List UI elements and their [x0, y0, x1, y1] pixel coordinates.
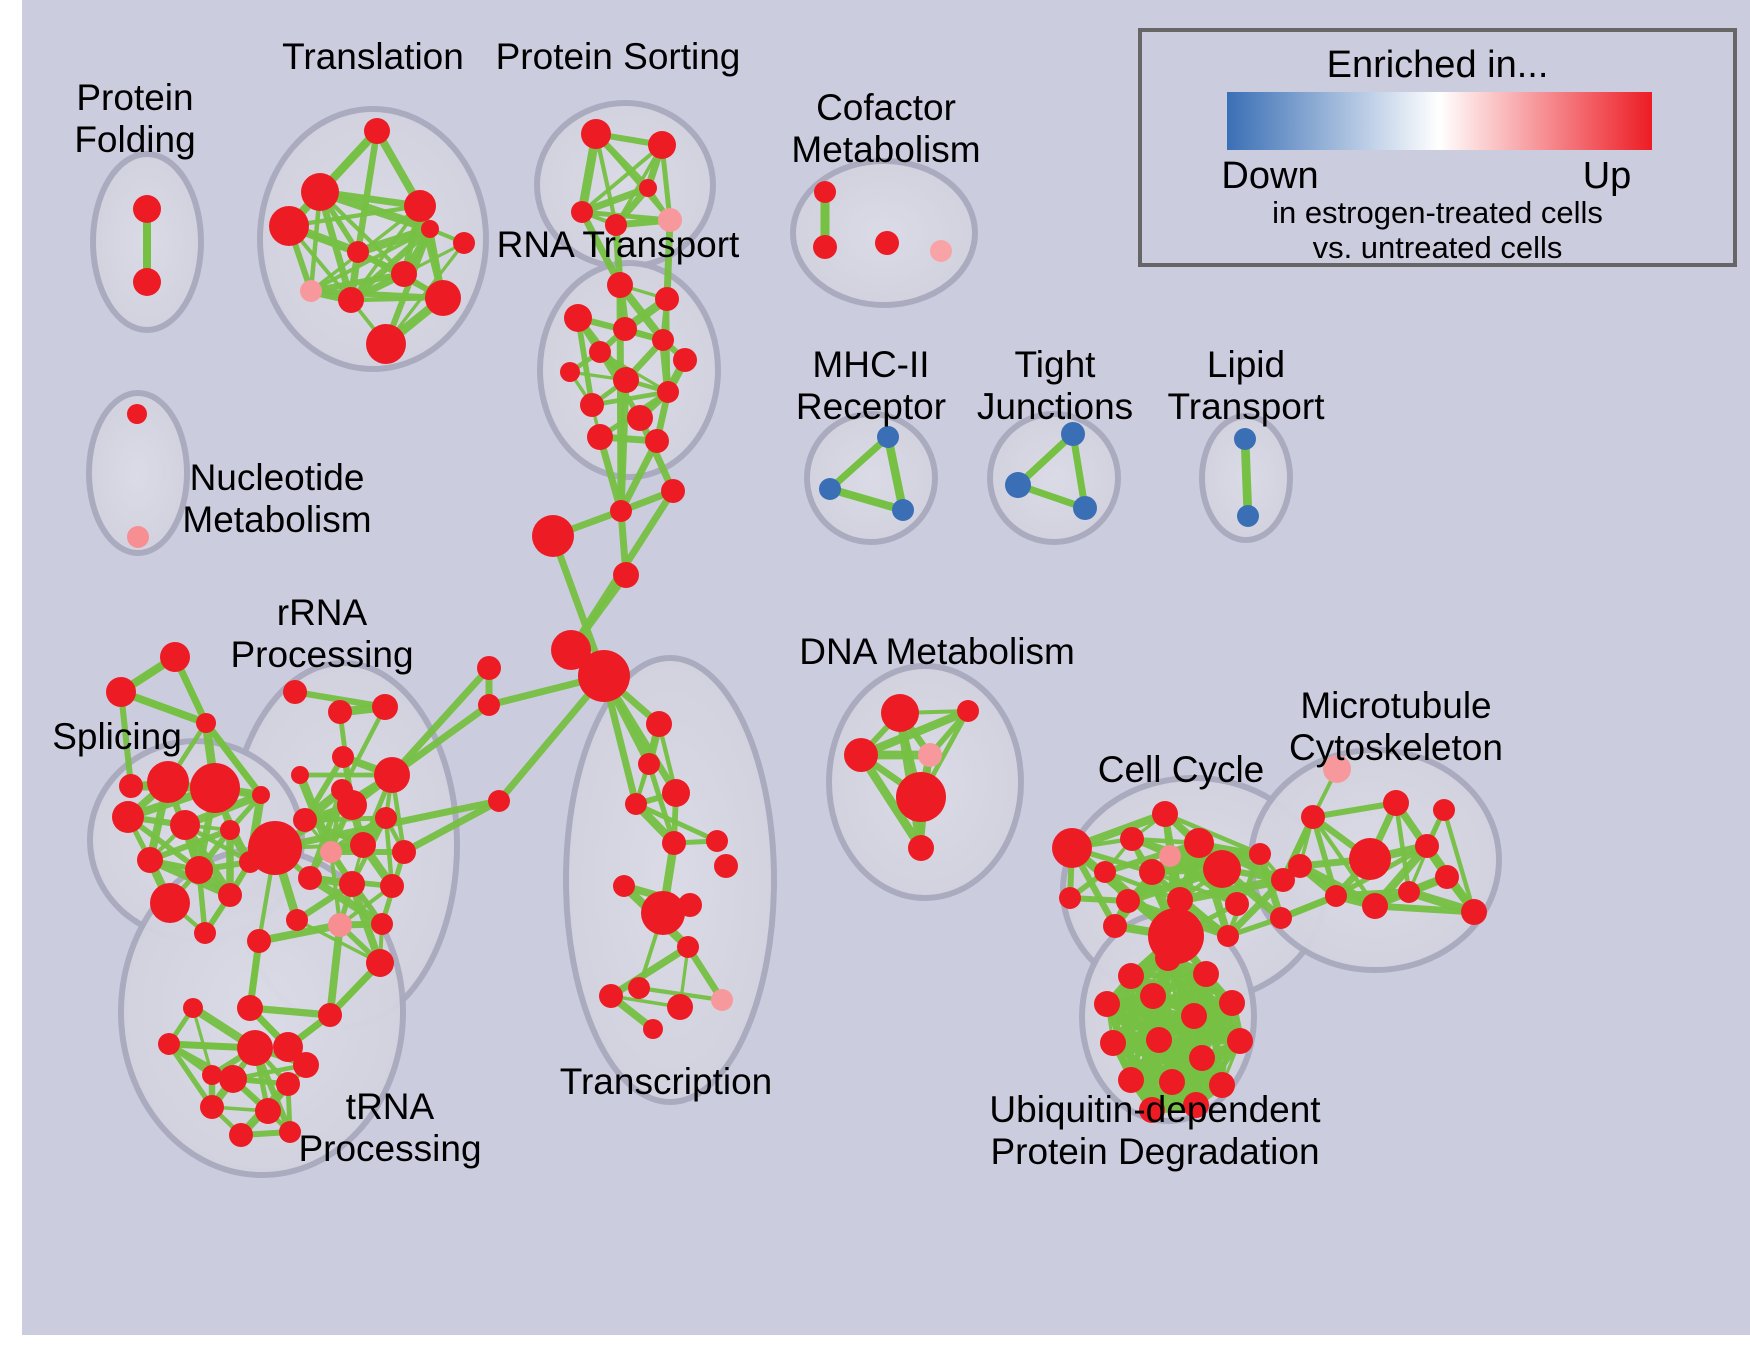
network-node[interactable] — [375, 807, 397, 829]
network-node[interactable] — [425, 280, 461, 316]
network-node[interactable] — [196, 713, 216, 733]
network-node[interactable] — [255, 1098, 281, 1124]
network-node[interactable] — [655, 287, 679, 311]
network-node[interactable] — [706, 830, 728, 852]
network-node[interactable] — [332, 746, 354, 768]
network-node[interactable] — [532, 515, 574, 557]
network-node[interactable] — [150, 883, 190, 923]
network-node[interactable] — [641, 891, 685, 935]
network-node[interactable] — [613, 367, 639, 393]
cluster-label-nucleotide-metabolism: NucleotideMetabolism — [182, 457, 371, 540]
network-node[interactable] — [639, 179, 657, 197]
network-node[interactable] — [648, 131, 676, 159]
network-node[interactable] — [892, 499, 914, 521]
network-node[interactable] — [380, 874, 404, 898]
network-node[interactable] — [1362, 893, 1388, 919]
legend-up-label: Up — [1583, 155, 1632, 197]
network-node[interactable] — [200, 1095, 224, 1119]
network-node[interactable] — [219, 1065, 247, 1093]
network-node[interactable] — [252, 786, 270, 804]
cluster-label-protein-folding: ProteinFolding — [74, 77, 195, 160]
network-node[interactable] — [613, 875, 635, 897]
network-node[interactable] — [374, 757, 410, 793]
network-node[interactable] — [477, 656, 501, 680]
network-node[interactable] — [673, 348, 697, 372]
cluster-ellipse-mhc-ii-receptor — [807, 414, 935, 542]
network-node[interactable] — [1140, 983, 1166, 1009]
network-node[interactable] — [318, 1003, 342, 1027]
network-node[interactable] — [158, 1033, 180, 1055]
legend-caption-line1: in estrogen-treated cells — [1272, 195, 1603, 230]
network-node[interactable] — [366, 324, 406, 364]
cluster-label-translation: Translation — [282, 36, 464, 77]
cluster-label-mhc-ii-receptor: MHC-IIReceptor — [796, 344, 946, 427]
cluster-label-rna-transport: RNA Transport — [497, 224, 740, 265]
network-node[interactable] — [339, 871, 365, 897]
network-node[interactable] — [190, 763, 240, 813]
network-node[interactable] — [229, 1123, 253, 1147]
network-node[interactable] — [364, 118, 390, 144]
network-node[interactable] — [613, 317, 637, 341]
network-node[interactable] — [291, 766, 309, 784]
network-node[interactable] — [1301, 805, 1325, 829]
network-node[interactable] — [1193, 961, 1219, 987]
network-node[interactable] — [1189, 1045, 1215, 1071]
network-node[interactable] — [337, 790, 367, 820]
network-node[interactable] — [564, 304, 592, 332]
network-node[interactable] — [628, 977, 650, 999]
legend-gradient-bar — [1227, 92, 1652, 150]
network-node[interactable] — [610, 500, 632, 522]
network-node[interactable] — [1184, 828, 1214, 858]
network-node[interactable] — [580, 393, 604, 417]
network-node[interactable] — [1155, 945, 1181, 971]
network-node[interactable] — [488, 790, 510, 812]
network-node[interactable] — [599, 984, 623, 1008]
network-node[interactable] — [338, 287, 364, 313]
cluster-label-protein-sorting: Protein Sorting — [496, 36, 741, 77]
network-node[interactable] — [218, 883, 242, 907]
network-node[interactable] — [133, 195, 161, 223]
network-node[interactable] — [578, 650, 630, 702]
network-node[interactable] — [320, 841, 342, 863]
network-node[interactable] — [1227, 1028, 1253, 1054]
cluster-label-microtubule-cytoskeleton: MicrotubuleCytoskeleton — [1289, 685, 1503, 768]
cluster-label-ubiquitin-protein-degradation: Ubiquitin-dependentProtein Degradation — [989, 1089, 1321, 1172]
cluster-label-cofactor-metabolism: CofactorMetabolism — [791, 87, 980, 170]
network-node[interactable] — [127, 404, 147, 424]
network-node[interactable] — [133, 268, 161, 296]
edge — [621, 380, 626, 511]
network-node[interactable] — [875, 231, 899, 255]
network-node[interactable] — [587, 424, 613, 450]
network-node[interactable] — [185, 856, 213, 884]
network-node[interactable] — [194, 922, 216, 944]
network-node[interactable] — [293, 808, 317, 832]
network-node[interactable] — [1225, 892, 1249, 916]
network-node[interactable] — [1146, 1027, 1172, 1053]
network-node[interactable] — [643, 1019, 663, 1039]
network-node[interactable] — [276, 1072, 300, 1096]
network-node[interactable] — [662, 831, 686, 855]
network-node[interactable] — [1383, 790, 1409, 816]
network-node[interactable] — [160, 642, 190, 672]
network-node[interactable] — [607, 272, 633, 298]
legend-title: Enriched in... — [1327, 44, 1549, 86]
network-node[interactable] — [877, 426, 899, 448]
network-node[interactable] — [137, 847, 163, 873]
cluster-label-cell-cycle: Cell Cycle — [1098, 749, 1265, 790]
network-node[interactable] — [1325, 885, 1347, 907]
network-node[interactable] — [283, 680, 307, 704]
network-node[interactable] — [1103, 914, 1127, 938]
network-node[interactable] — [881, 694, 919, 732]
network-node[interactable] — [646, 711, 672, 737]
network-node[interactable] — [202, 1065, 222, 1085]
network-node[interactable] — [366, 949, 394, 977]
network-node[interactable] — [404, 190, 436, 222]
network-node[interactable] — [392, 840, 416, 864]
network-node[interactable] — [372, 694, 398, 720]
network-node[interactable] — [1435, 865, 1459, 889]
network-node[interactable] — [625, 793, 647, 815]
network-node[interactable] — [1234, 428, 1256, 450]
network-node[interactable] — [1237, 505, 1259, 527]
network-node[interactable] — [453, 232, 475, 254]
legend-down-label: Down — [1221, 155, 1318, 197]
network-node[interactable] — [918, 743, 942, 767]
network-node[interactable] — [896, 772, 946, 822]
network-node[interactable] — [293, 1052, 319, 1078]
network-node[interactable] — [560, 362, 580, 382]
network-node[interactable] — [627, 405, 653, 431]
figure-canvas: ProteinFoldingTranslationProtein Sorting… — [0, 0, 1750, 1360]
network-node[interactable] — [657, 381, 679, 403]
network-node[interactable] — [371, 913, 393, 935]
network-node[interactable] — [1120, 827, 1144, 851]
network-node[interactable] — [1433, 799, 1455, 821]
network-node[interactable] — [127, 526, 149, 548]
network-node[interactable] — [1094, 991, 1120, 1017]
network-node[interactable] — [652, 329, 674, 351]
network-node[interactable] — [1249, 843, 1271, 865]
network-node[interactable] — [613, 562, 639, 588]
network-node[interactable] — [1159, 845, 1181, 867]
network-node[interactable] — [106, 677, 136, 707]
network-node[interactable] — [1073, 496, 1097, 520]
network-node[interactable] — [844, 738, 878, 772]
network-node[interactable] — [1415, 834, 1439, 858]
network-node[interactable] — [112, 801, 144, 833]
cluster-label-transcription: Transcription — [560, 1061, 772, 1102]
network-node[interactable] — [247, 929, 271, 953]
network-node[interactable] — [286, 909, 308, 931]
network-node[interactable] — [1203, 850, 1241, 888]
network-node[interactable] — [1181, 1003, 1207, 1029]
network-node[interactable] — [1005, 472, 1031, 498]
network-node[interactable] — [714, 854, 738, 878]
network-node[interactable] — [589, 341, 611, 363]
network-node[interactable] — [1217, 925, 1239, 947]
legend: Enriched in... Down Up in estrogen-treat… — [1140, 30, 1735, 265]
network-node[interactable] — [571, 201, 593, 223]
network-node[interactable] — [350, 832, 376, 858]
network-node[interactable] — [237, 995, 263, 1021]
network-node[interactable] — [119, 774, 143, 798]
network-node[interactable] — [957, 700, 979, 722]
network-node[interactable] — [301, 173, 339, 211]
network-node[interactable] — [1116, 889, 1140, 913]
network-diagram-svg: ProteinFoldingTranslationProtein Sorting… — [0, 0, 1750, 1360]
network-node[interactable] — [220, 820, 240, 840]
network-node[interactable] — [269, 206, 309, 246]
network-node[interactable] — [1052, 828, 1092, 868]
network-node[interactable] — [711, 989, 733, 1011]
network-node[interactable] — [581, 119, 611, 149]
network-node[interactable] — [347, 241, 369, 263]
network-node[interactable] — [1118, 963, 1144, 989]
network-node[interactable] — [661, 479, 685, 503]
network-node[interactable] — [170, 810, 200, 840]
network-node[interactable] — [248, 821, 302, 875]
network-node[interactable] — [1349, 838, 1391, 880]
network-node[interactable] — [819, 478, 841, 500]
edge — [1245, 439, 1248, 516]
network-node[interactable] — [908, 835, 934, 861]
network-node[interactable] — [814, 181, 836, 203]
network-node[interactable] — [930, 240, 952, 262]
network-node[interactable] — [1094, 861, 1116, 883]
network-node[interactable] — [1398, 881, 1420, 903]
network-node[interactable] — [1219, 990, 1245, 1016]
network-node[interactable] — [478, 694, 500, 716]
network-node[interactable] — [421, 220, 439, 238]
network-node[interactable] — [638, 753, 660, 775]
network-node[interactable] — [662, 779, 690, 807]
cluster-label-dna-metabolism: DNA Metabolism — [799, 631, 1075, 672]
network-node[interactable] — [677, 936, 699, 958]
network-node[interactable] — [147, 761, 189, 803]
network-node[interactable] — [1461, 899, 1487, 925]
network-node[interactable] — [391, 261, 417, 287]
network-node[interactable] — [298, 866, 322, 890]
network-node[interactable] — [237, 1030, 273, 1066]
network-node[interactable] — [300, 280, 322, 302]
network-node[interactable] — [1270, 907, 1292, 929]
network-node[interactable] — [328, 913, 352, 937]
network-node[interactable] — [1059, 887, 1081, 909]
network-node[interactable] — [1152, 801, 1178, 827]
cluster-label-splicing: Splicing — [52, 716, 182, 757]
network-node[interactable] — [1288, 854, 1312, 878]
network-node[interactable] — [813, 235, 837, 259]
network-node[interactable] — [1100, 1030, 1126, 1056]
network-node[interactable] — [645, 429, 669, 453]
legend-caption-line2: vs. untreated cells — [1313, 230, 1563, 265]
network-node[interactable] — [328, 700, 352, 724]
network-node[interactable] — [1139, 859, 1165, 885]
network-node[interactable] — [667, 994, 693, 1020]
network-node[interactable] — [183, 998, 203, 1018]
